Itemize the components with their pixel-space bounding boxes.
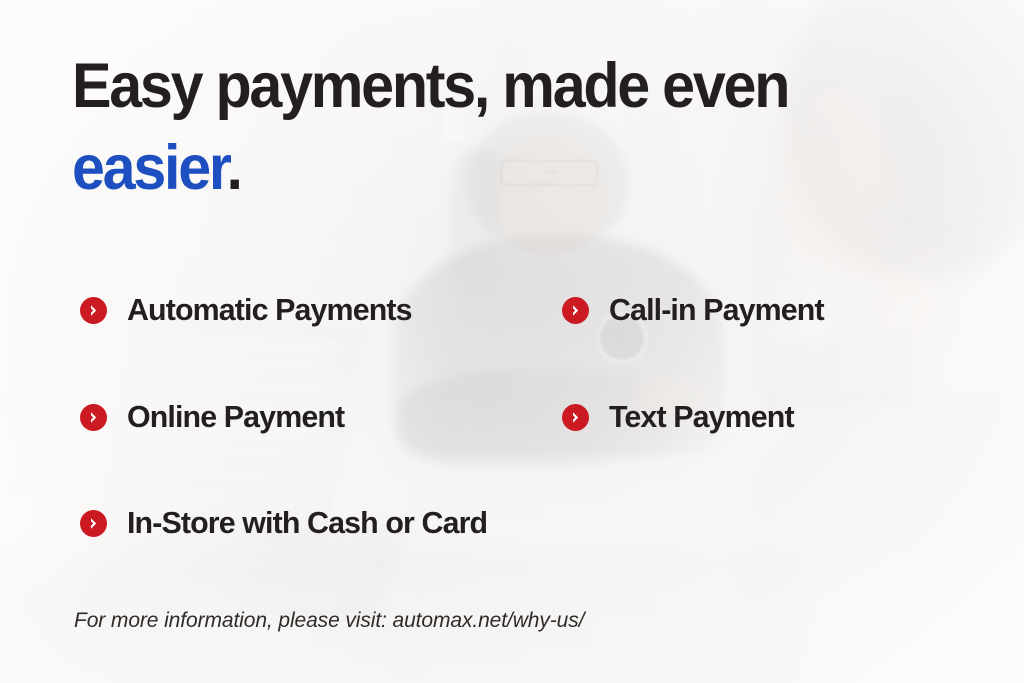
feature-label: Online Payment <box>127 399 344 435</box>
chevron-right-circle-icon <box>562 404 589 431</box>
feature-list: Automatic Payments Call-in Payment Onlin… <box>0 0 1024 683</box>
footer-note: For more information, please visit: auto… <box>74 609 584 633</box>
feature-item-in-store-cash-or-card: In-Store with Cash or Card <box>80 505 495 541</box>
feature-item-online-payment: Online Payment <box>80 399 349 435</box>
feature-item-text-payment: Text Payment <box>562 399 797 435</box>
feature-label: In-Store with Cash or Card <box>127 505 487 541</box>
chevron-right-circle-icon <box>80 297 107 324</box>
banner-content: Easy payments, made even easier. Automat… <box>0 0 1024 683</box>
chevron-right-circle-icon <box>80 404 107 431</box>
feature-label: Text Payment <box>609 399 794 435</box>
feature-item-call-in-payment: Call-in Payment <box>562 292 828 328</box>
chevron-right-circle-icon <box>80 510 107 537</box>
chevron-right-circle-icon <box>562 297 589 324</box>
promo-banner: Easy payments, made even easier. Automat… <box>0 0 1024 683</box>
feature-label: Automatic Payments <box>127 292 412 328</box>
feature-label: Call-in Payment <box>609 292 824 328</box>
feature-item-automatic-payments: Automatic Payments <box>80 292 417 328</box>
